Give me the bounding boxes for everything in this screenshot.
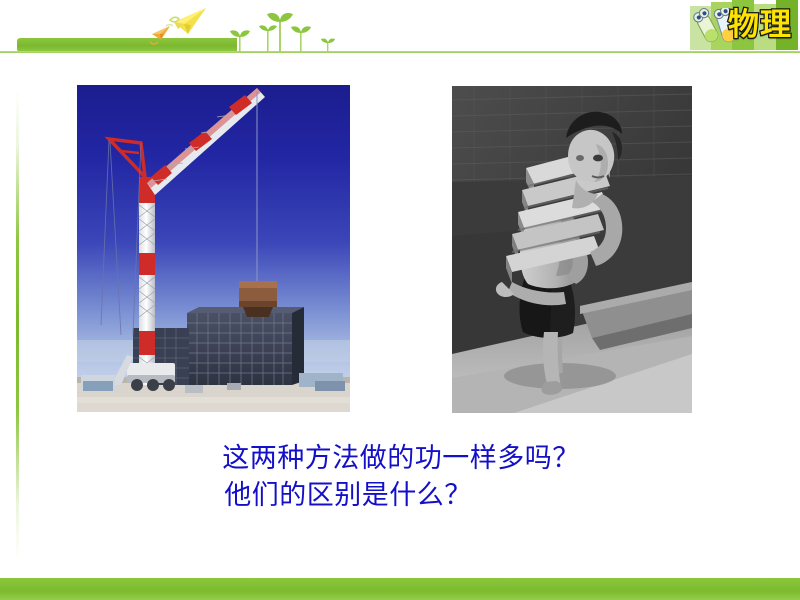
sprout-icons — [228, 6, 338, 54]
paper-plane-icon — [148, 4, 210, 46]
slide-footer-bar — [0, 578, 800, 600]
construction-crane-photo — [77, 85, 350, 412]
slide-header: 物理 — [0, 0, 800, 54]
header-hairline-rule — [0, 51, 800, 53]
logo-title: 物理 — [728, 3, 792, 47]
boy-carrying-bricks-photo — [452, 86, 692, 413]
question-line-2: 他们的区别是什么？ — [0, 477, 800, 514]
question-line-1: 这两种方法做的功一样多吗？ — [0, 440, 800, 477]
slide: 物理 — [0, 0, 800, 600]
question-text-block: 这两种方法做的功一样多吗？ 他们的区别是什么？ — [0, 440, 800, 514]
subject-logo: 物理 — [690, 0, 798, 50]
